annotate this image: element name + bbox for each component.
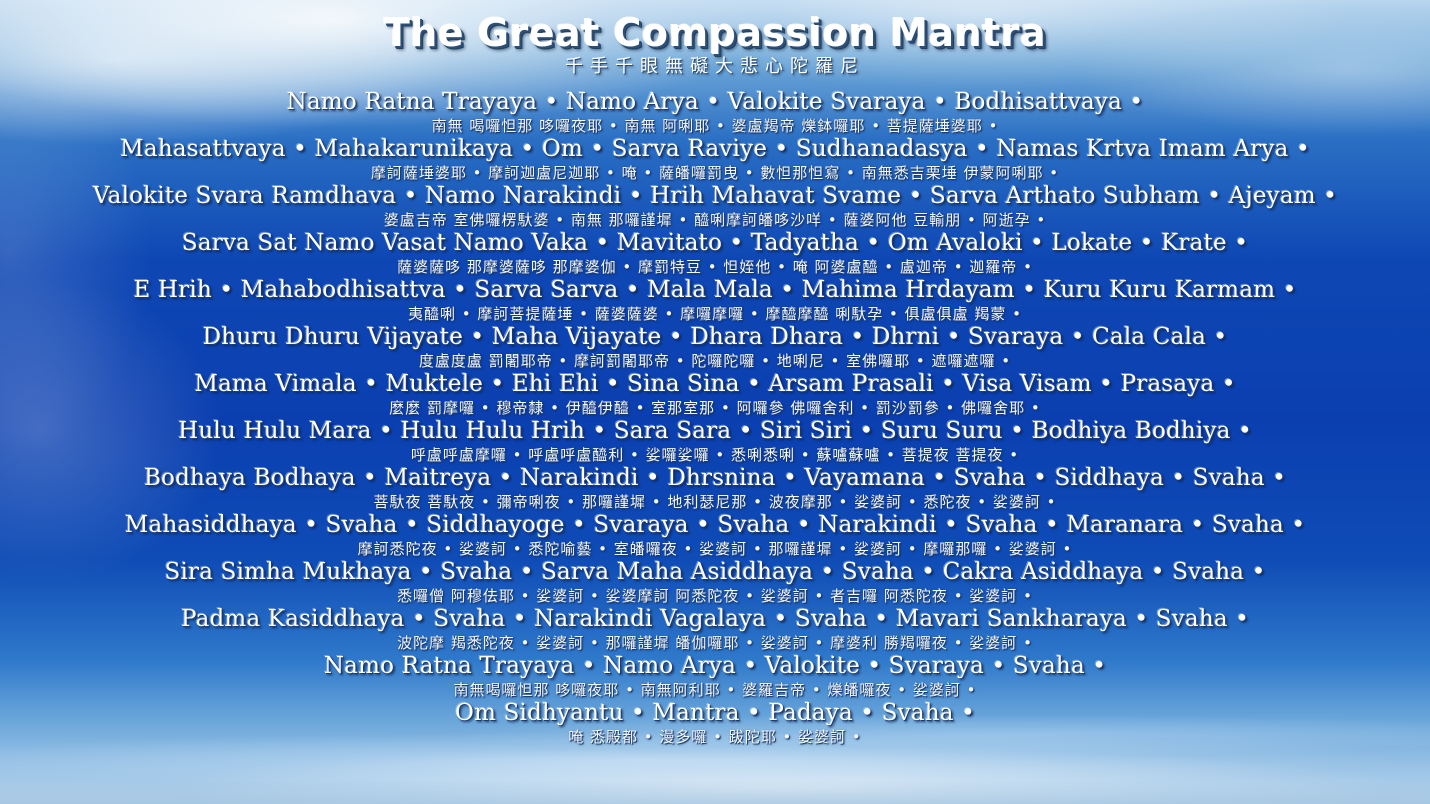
mantra-verse: Mama Vimala • Muktele • Ehi Ehi • Sina S… <box>0 372 1430 419</box>
mantra-poster: The Great Compassion Mantra 千手千眼無礙大悲心陀羅尼… <box>0 0 1430 804</box>
mantra-line-romanized: Namo Ratna Trayaya • Namo Arya • Valokit… <box>0 654 1430 679</box>
mantra-line-romanized: Bodhaya Bodhaya • Maitreya • Narakindi •… <box>0 466 1430 491</box>
mantra-line-romanized: E Hrih • Mahabodhisattva • Sarva Sarva •… <box>0 278 1430 303</box>
mantra-body: Namo Ratna Trayaya • Namo Arya • Valokit… <box>0 90 1430 748</box>
mantra-line-romanized: Padma Kasiddhaya • Svaha • Narakindi Vag… <box>0 607 1430 632</box>
mantra-verse: Valokite Svara Ramdhava • Namo Narakindi… <box>0 184 1430 231</box>
mantra-line-romanized: Namo Ratna Trayaya • Namo Arya • Valokit… <box>0 90 1430 115</box>
mantra-verse: Namo Ratna Trayaya • Namo Arya • Valokit… <box>0 654 1430 701</box>
mantra-line-chinese: 南無喝囉怛那 哆囉夜耶 • 南無阿利耶 • 婆羅吉帝 • 爍皤囉夜 • 娑婆訶 … <box>0 679 1430 701</box>
mantra-verse: Mahasattvaya • Mahakarunikaya • Om • Sar… <box>0 137 1430 184</box>
mantra-line-chinese: 唵 悉殿都 • 漫多囉 • 跋陀耶 • 娑婆訶 • <box>0 726 1430 748</box>
mantra-line-chinese: 南無 喝囉怛那 哆囉夜耶 • 南無 阿唎耶 • 婆盧羯帝 爍鉢囉耶 • 菩提薩埵… <box>0 115 1430 137</box>
mantra-verse: Sarva Sat Namo Vasat Namo Vaka • Mavitat… <box>0 231 1430 278</box>
mantra-line-romanized: Hulu Hulu Mara • Hulu Hulu Hrih • Sara S… <box>0 419 1430 444</box>
mantra-line-chinese: 薩婆薩哆 那摩婆薩哆 那摩婆伽 • 摩罰特豆 • 怛姪他 • 唵 阿婆盧醯 • … <box>0 256 1430 278</box>
mantra-line-chinese: 夷醯唎 • 摩訶菩提薩埵 • 薩婆薩婆 • 摩囉摩囉 • 摩醯摩醯 唎馱孕 • … <box>0 303 1430 325</box>
mantra-line-chinese: 麼麼 罰摩囉 • 穆帝隸 • 伊醯伊醯 • 室那室那 • 阿囉參 佛囉舍利 • … <box>0 397 1430 419</box>
page-subtitle-chinese: 千手千眼無礙大悲心陀羅尼 <box>0 58 1430 76</box>
mantra-line-chinese: 菩馱夜 菩馱夜 • 彌帝唎夜 • 那囉謹墀 • 地利瑟尼那 • 波夜摩那 • 娑… <box>0 491 1430 513</box>
mantra-verse: Sira Simha Mukhaya • Svaha • Sarva Maha … <box>0 560 1430 607</box>
mantra-line-romanized: Dhuru Dhuru Vijayate • Maha Vijayate • D… <box>0 325 1430 350</box>
mantra-line-romanized: Valokite Svara Ramdhava • Namo Narakindi… <box>0 184 1430 209</box>
page-title: The Great Compassion Mantra <box>0 14 1430 52</box>
mantra-verse: E Hrih • Mahabodhisattva • Sarva Sarva •… <box>0 278 1430 325</box>
mantra-line-chinese: 呼盧呼盧摩囉 • 呼盧呼盧醯利 • 娑囉娑囉 • 悉唎悉唎 • 蘇嚧蘇嚧 • 菩… <box>0 444 1430 466</box>
mantra-line-romanized: Mahasiddhaya • Svaha • Siddhayoge • Svar… <box>0 513 1430 538</box>
mantra-line-chinese: 度盧度盧 罰闍耶帝 • 摩訶罰闍耶帝 • 陀囉陀囉 • 地唎尼 • 室佛囉耶 •… <box>0 350 1430 372</box>
mantra-verse: Hulu Hulu Mara • Hulu Hulu Hrih • Sara S… <box>0 419 1430 466</box>
mantra-line-chinese: 波陀摩 羯悉陀夜 • 娑婆訶 • 那囉謹墀 皤伽囉耶 • 娑婆訶 • 摩婆利 勝… <box>0 632 1430 654</box>
mantra-verse: Dhuru Dhuru Vijayate • Maha Vijayate • D… <box>0 325 1430 372</box>
mantra-line-chinese: 婆盧吉帝 室佛囉楞馱婆 • 南無 那囉謹墀 • 醯唎摩訶皤哆沙咩 • 薩婆阿他 … <box>0 209 1430 231</box>
mantra-line-chinese: 悉囉僧 阿穆佉耶 • 娑婆訶 • 娑婆摩訶 阿悉陀夜 • 娑婆訶 • 者吉囉 阿… <box>0 585 1430 607</box>
mantra-verse: Mahasiddhaya • Svaha • Siddhayoge • Svar… <box>0 513 1430 560</box>
mantra-line-romanized: Sarva Sat Namo Vasat Namo Vaka • Mavitat… <box>0 231 1430 256</box>
mantra-verse: Bodhaya Bodhaya • Maitreya • Narakindi •… <box>0 466 1430 513</box>
mantra-line-romanized: Sira Simha Mukhaya • Svaha • Sarva Maha … <box>0 560 1430 585</box>
mantra-line-chinese: 摩訶悉陀夜 • 娑婆訶 • 悉陀喻藝 • 室皤囉夜 • 娑婆訶 • 那囉謹墀 •… <box>0 538 1430 560</box>
mantra-verse: Padma Kasiddhaya • Svaha • Narakindi Vag… <box>0 607 1430 654</box>
mantra-line-romanized: Mama Vimala • Muktele • Ehi Ehi • Sina S… <box>0 372 1430 397</box>
mantra-line-romanized: Mahasattvaya • Mahakarunikaya • Om • Sar… <box>0 137 1430 162</box>
poster-header: The Great Compassion Mantra 千手千眼無礙大悲心陀羅尼 <box>0 0 1430 76</box>
mantra-line-chinese: 摩訶薩埵婆耶 • 摩訶迦盧尼迦耶 • 唵 • 薩皤囉罰曳 • 數怛那怛寫 • 南… <box>0 162 1430 184</box>
mantra-verse: Om Sidhyantu • Mantra • Padaya • Svaha •… <box>0 701 1430 748</box>
mantra-line-romanized: Om Sidhyantu • Mantra • Padaya • Svaha • <box>0 701 1430 726</box>
mantra-verse: Namo Ratna Trayaya • Namo Arya • Valokit… <box>0 90 1430 137</box>
